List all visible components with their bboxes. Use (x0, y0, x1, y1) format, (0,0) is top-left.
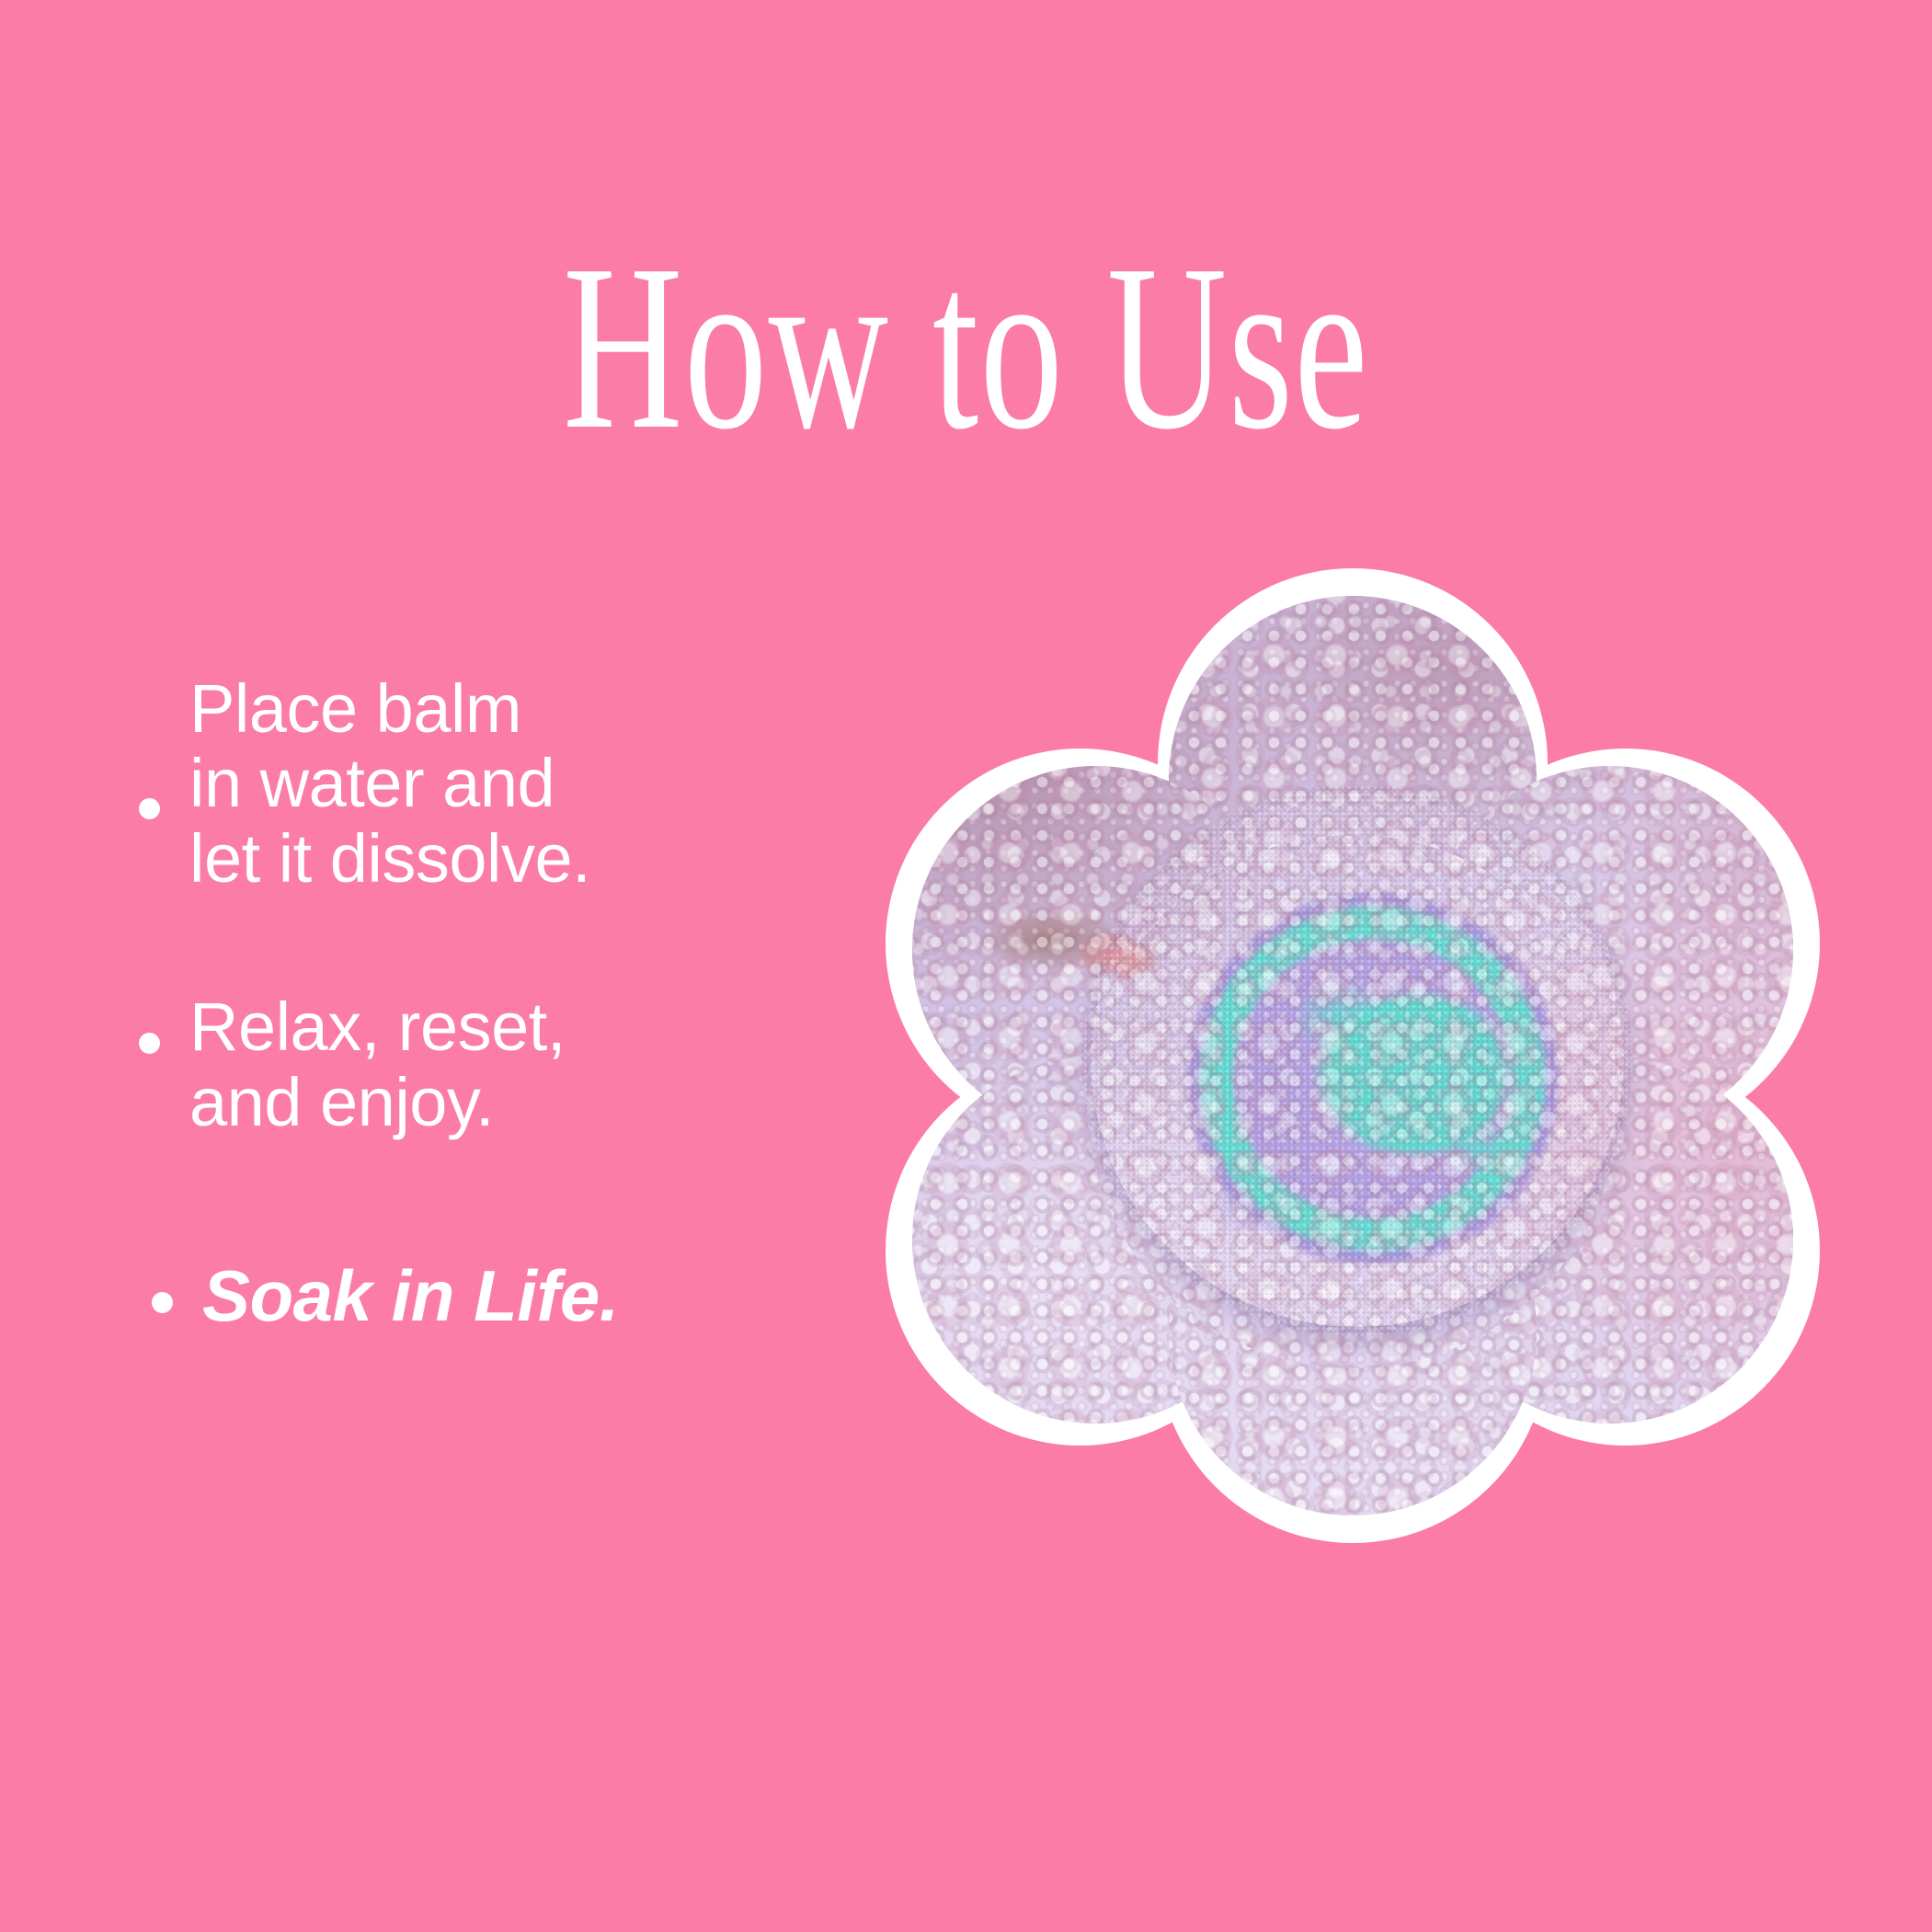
bath-bomb-photo (894, 596, 1812, 1515)
list-item-label: Soak in Life. (202, 1257, 619, 1336)
list-item-label: Place balm in water and let it dissolve. (189, 671, 590, 896)
list-item-label: Relax, reset, and enjoy. (189, 989, 566, 1139)
list-item: Relax, reset, and enjoy. (109, 989, 835, 1139)
flower-shaped-product-photo (866, 568, 1839, 1543)
bullet-dot-icon (109, 989, 189, 1054)
bath-bomb-texture (1082, 784, 1633, 1336)
page-title: How to Use (290, 228, 1642, 465)
list-item: Place balm in water and let it dissolve. (109, 671, 835, 896)
list-item: Soak in Life. (109, 1257, 835, 1336)
bullet-dot-icon (109, 1257, 202, 1313)
how-to-use-step-list: Place balm in water and let it dissolve.… (109, 671, 835, 1336)
poster-canvas: How to Use Place balm in water and let i… (0, 0, 1932, 1932)
bullet-dot-icon (109, 671, 189, 819)
